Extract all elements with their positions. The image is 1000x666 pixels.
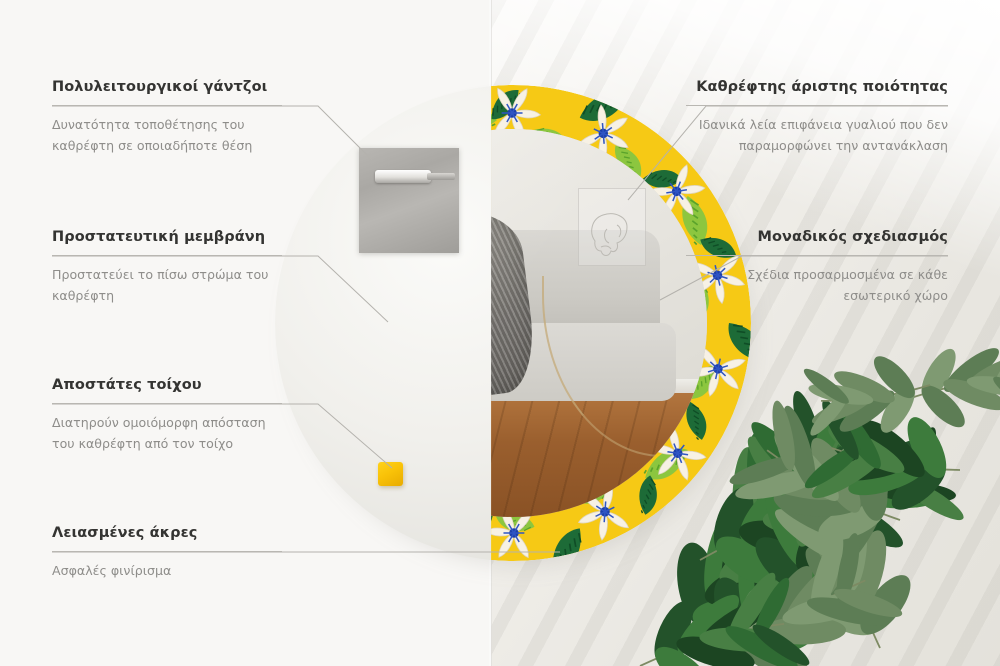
infographic-canvas: Πολυλειτουργικοί γάντζοι Δυνατότητα τοπο…: [0, 0, 1000, 666]
foliage-svg: [0, 0, 1000, 666]
